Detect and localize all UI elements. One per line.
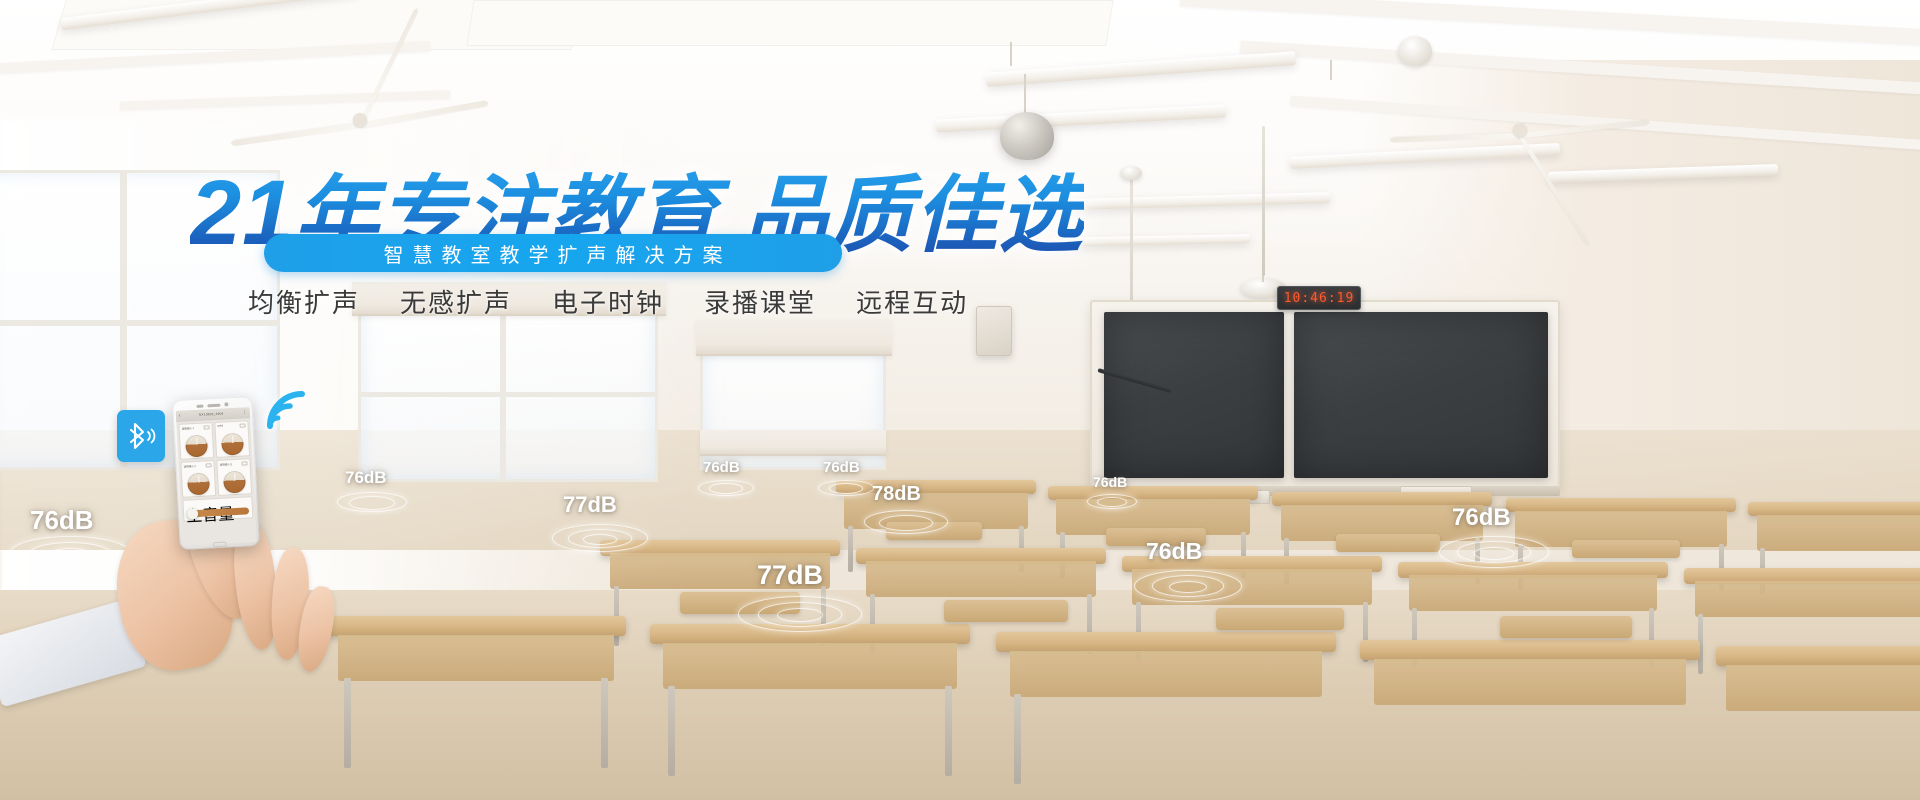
light-rod <box>1010 42 1012 66</box>
window-shade <box>696 320 892 356</box>
ceiling-fan <box>1380 110 1660 150</box>
window-mullion <box>358 392 658 397</box>
app-body: 话筒输入1 MP3 话筒输入2 话筒输入3 主音量 <box>176 418 256 546</box>
channel-tag-icon <box>205 463 211 467</box>
db-label: 76dB <box>345 468 387 488</box>
channel-tag-icon <box>241 461 247 465</box>
chair-back <box>1500 616 1632 638</box>
channel-tag-icon <box>239 423 245 427</box>
db-label: 76dB <box>1146 538 1202 565</box>
feature-item-4: 远程互动 <box>856 283 968 320</box>
mic-cap <box>1120 166 1142 180</box>
master-volume-card[interactable]: 主音量 <box>182 496 253 522</box>
smartphone[interactable]: ‹ NX13602_2904 ⋮ 话筒输入1 MP3 话筒输入2 话筒输入3 <box>172 396 260 550</box>
chair-back <box>1216 608 1344 630</box>
channel-card[interactable]: 话筒输入2 <box>180 460 216 498</box>
led-clock-display: 10:46:19 <box>1277 286 1361 310</box>
feature-list: 均衡扩声 无感扩声 电子时钟 录播课堂 远程互动 <box>248 283 968 320</box>
chair-back <box>1336 534 1440 552</box>
volume-knob[interactable] <box>223 470 246 493</box>
window-shade <box>700 430 886 456</box>
db-label: 77dB <box>563 492 617 518</box>
chair-back <box>944 600 1068 622</box>
window-mullion <box>0 320 280 326</box>
phone-sensor <box>196 404 203 407</box>
chair-back <box>1572 540 1680 558</box>
db-label: 76dB <box>1093 474 1127 490</box>
mic-stalk <box>1262 126 1265 276</box>
volume-knob[interactable] <box>185 434 208 457</box>
window <box>358 300 658 482</box>
clock-time: 10:46:19 <box>1284 291 1355 306</box>
app-title: NX13602_2904 <box>181 411 242 418</box>
menu-dots-icon[interactable]: ⋮ <box>242 410 247 415</box>
subtitle-pill: 智慧教室教学扩声解决方案 <box>264 234 842 272</box>
wifi-signal-icon <box>264 386 312 432</box>
feature-item-0: 均衡扩声 <box>248 283 360 320</box>
ceiling-fan <box>230 100 490 140</box>
ceiling-panel <box>466 0 1113 46</box>
channel-card[interactable]: 话筒输入1 <box>178 422 214 460</box>
channel-card[interactable]: 话筒输入3 <box>216 458 252 496</box>
phone-front-camera <box>224 402 228 406</box>
ceiling-dome-small <box>1398 36 1432 66</box>
feature-item-3: 录播课堂 <box>704 283 816 320</box>
light-rod <box>1330 60 1332 80</box>
channel-card[interactable]: MP3 <box>214 420 250 458</box>
db-label: 76dB <box>823 459 860 476</box>
phone-home-button[interactable] <box>213 542 227 548</box>
volume-knob[interactable] <box>221 433 244 456</box>
db-label: 78dB <box>872 483 921 506</box>
db-label: 76dB <box>1452 504 1511 532</box>
window-mullion <box>500 300 506 482</box>
subtitle-pill-label: 智慧教室教学扩声解决方案 <box>375 239 732 268</box>
speaker-rod <box>1024 74 1026 116</box>
wall-speaker <box>976 306 1012 356</box>
channel-tag-icon <box>204 425 210 429</box>
phone-earpiece <box>196 402 228 408</box>
bluetooth-icon <box>124 421 158 451</box>
interactive-display[interactable] <box>1294 312 1548 478</box>
db-label: 77dB <box>757 560 823 591</box>
db-label: 76dB <box>30 505 94 536</box>
phone-speaker-grille <box>207 403 220 407</box>
bluetooth-badge <box>117 410 165 462</box>
feature-item-2: 电子时钟 <box>552 283 664 320</box>
wifi-signal-indicator <box>264 386 312 437</box>
db-label: 76dB <box>703 459 740 476</box>
phone-screen[interactable]: ‹ NX13602_2904 ⋮ 话筒输入1 MP3 话筒输入2 话筒输入3 <box>176 407 257 546</box>
blackboard <box>1104 312 1284 478</box>
volume-knob[interactable] <box>187 472 210 495</box>
feature-item-1: 无感扩声 <box>400 283 512 320</box>
